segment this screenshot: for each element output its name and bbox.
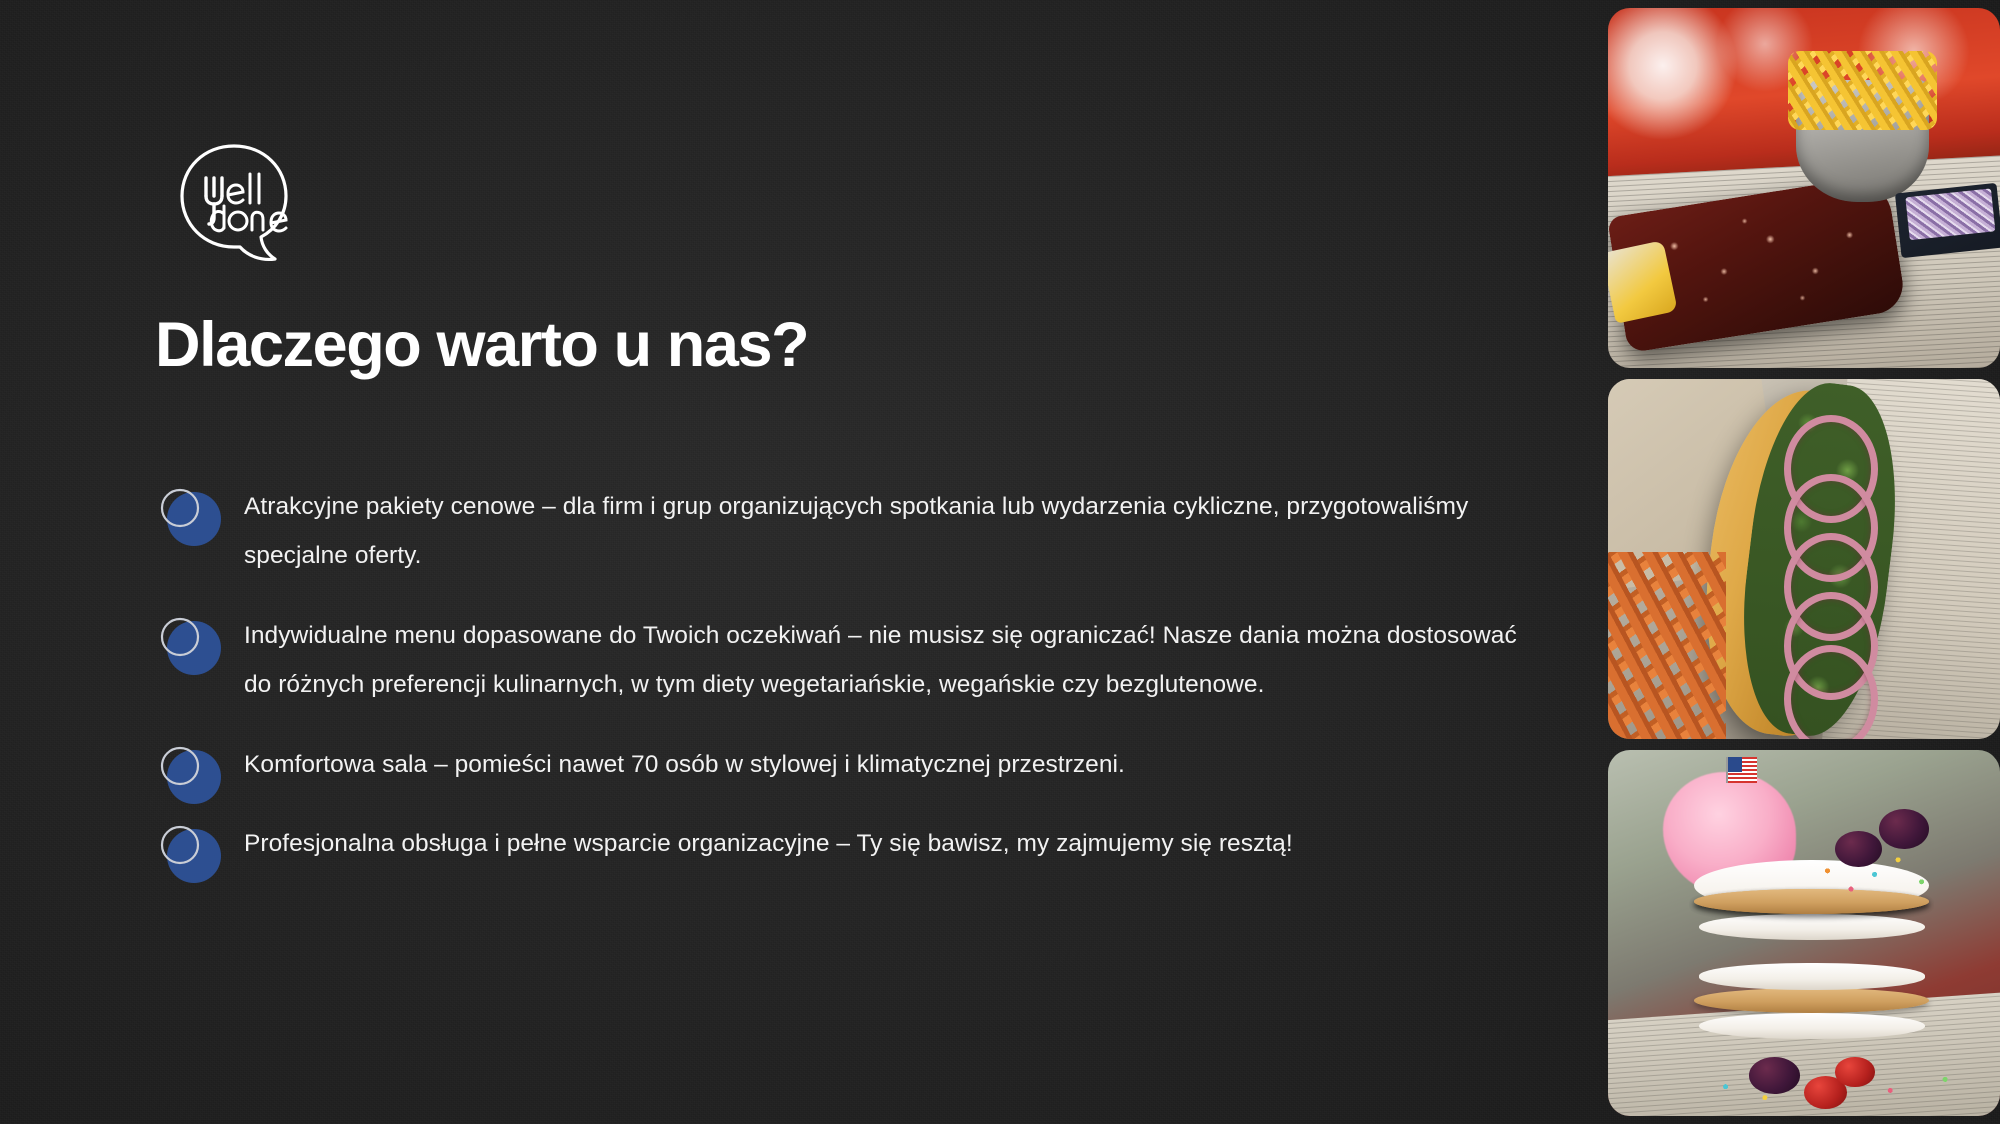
list-item: Komfortowa sala – pomieści nawet 70 osób… bbox=[158, 740, 1548, 789]
list-item: Atrakcyjne pakiety cenowe – dla firm i g… bbox=[158, 482, 1548, 581]
page-title: Dlaczego warto u nas? bbox=[155, 312, 808, 378]
list-item-label: Atrakcyjne pakiety cenowe – dla firm i g… bbox=[244, 493, 1468, 569]
list-item-label: Indywidualne menu dopasowane do Twoich o… bbox=[244, 622, 1517, 698]
bullet-marker-icon bbox=[158, 742, 230, 808]
list-item: Indywidualne menu dopasowane do Twoich o… bbox=[158, 611, 1548, 710]
sprinkles-shape bbox=[1608, 750, 2000, 1116]
photo-strip: Żeberka BBQ z frytkami w metalowym koszy… bbox=[1600, 0, 2000, 1124]
list-item-label: Komfortowa sala – pomieści nawet 70 osób… bbox=[244, 751, 1125, 778]
list-item: Profesjonalna obsługa i pełne wsparcie o… bbox=[158, 819, 1548, 868]
bullet-marker-icon bbox=[158, 821, 230, 887]
benefits-list: Atrakcyjne pakiety cenowe – dla firm i g… bbox=[158, 482, 1548, 869]
slide-root: Dlaczego warto u nas? Atrakcyjne pakiety… bbox=[0, 0, 2000, 1124]
photo-bbq-ribs: Żeberka BBQ z frytkami w metalowym koszy… bbox=[1608, 8, 2000, 368]
bullet-marker-icon bbox=[158, 613, 230, 679]
bullet-marker-icon bbox=[158, 484, 230, 550]
well-done-logo[interactable] bbox=[168, 140, 300, 268]
onion-rings-shape bbox=[1784, 415, 1878, 710]
list-item-label: Profesjonalna obsługa i pełne wsparcie o… bbox=[244, 830, 1293, 857]
photo-baguette-sandwich: Kanapka w bagietce z rukolą, chimichurri… bbox=[1608, 379, 2000, 739]
slide-content-left: Dlaczego warto u nas? Atrakcyjne pakiety… bbox=[0, 0, 1600, 1124]
slaw-bowl-shape bbox=[1895, 183, 2000, 258]
sweet-potato-fries-shape bbox=[1608, 552, 1726, 739]
fries-shape bbox=[1788, 51, 1937, 130]
photo-pancake-stack: Stos naleśników z bitą śmietaną, watą cu… bbox=[1608, 750, 2000, 1116]
